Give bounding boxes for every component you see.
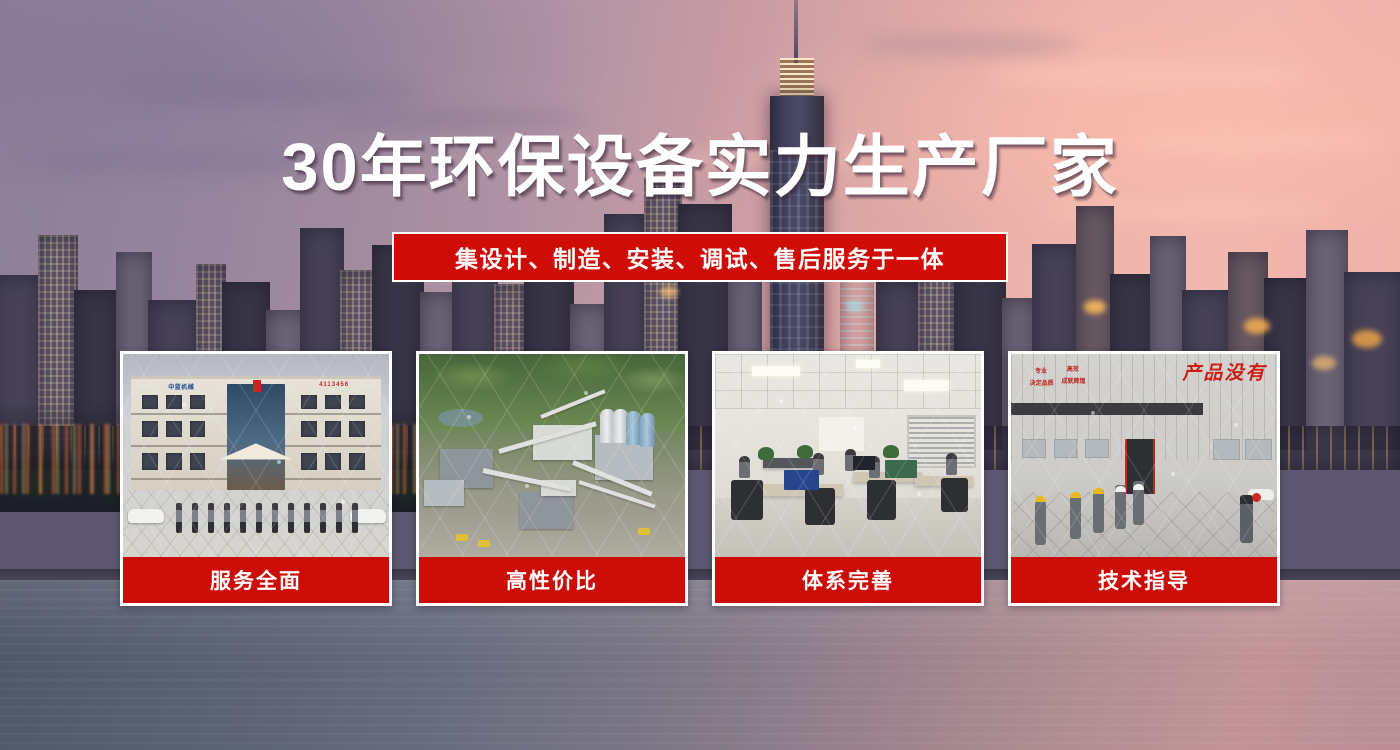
building-window bbox=[142, 453, 158, 469]
page-title: 30年环保设备实力生产厂家 bbox=[0, 134, 1400, 201]
building bbox=[1344, 272, 1400, 450]
computer-monitor bbox=[885, 460, 917, 478]
building-entrance bbox=[227, 384, 286, 490]
computer-monitor bbox=[853, 456, 874, 470]
building-window bbox=[301, 421, 317, 437]
factory-window bbox=[1022, 439, 1046, 457]
staff-person bbox=[192, 503, 198, 533]
watermark-dot bbox=[1171, 472, 1175, 476]
factory-window bbox=[1245, 439, 1272, 459]
office-chair bbox=[805, 488, 834, 525]
watermark-dot bbox=[182, 403, 186, 407]
potted-plant bbox=[797, 445, 813, 458]
card-photo-company-building: 中蓝机械 4113456 bbox=[123, 354, 389, 557]
supervisor bbox=[1240, 495, 1253, 543]
building-window bbox=[325, 421, 341, 437]
hard-hat bbox=[1133, 484, 1144, 490]
feature-card[interactable]: 体系完善 bbox=[712, 351, 984, 606]
staff-person bbox=[320, 503, 326, 533]
watermark-dot bbox=[277, 460, 281, 464]
city-light-glow bbox=[1352, 330, 1382, 348]
ceiling-light bbox=[904, 380, 949, 390]
office-worker bbox=[739, 456, 750, 478]
staff-person bbox=[176, 503, 182, 533]
building bbox=[1306, 230, 1348, 450]
factory-window bbox=[1085, 439, 1109, 457]
subtitle-text: 集设计、制造、安装、调试、售后服务于一体 bbox=[455, 240, 945, 274]
building-window bbox=[166, 453, 182, 469]
card-label: 高性价比 bbox=[419, 557, 685, 603]
watermark-dot bbox=[1091, 411, 1095, 415]
parked-car bbox=[128, 509, 164, 523]
building-window bbox=[349, 453, 365, 469]
plant-structure bbox=[520, 492, 573, 529]
slogan-small-text: 成就辉煌 bbox=[1062, 376, 1086, 385]
construction-machine bbox=[638, 528, 650, 535]
building-sign-text: 中蓝机械 bbox=[168, 382, 194, 391]
building-window bbox=[325, 453, 341, 469]
building-window bbox=[190, 453, 206, 469]
office-worker bbox=[946, 453, 957, 475]
card-photo-office-interior bbox=[715, 354, 981, 557]
computer-monitor bbox=[784, 470, 819, 490]
card-label: 体系完善 bbox=[715, 557, 981, 603]
staff-person bbox=[304, 503, 310, 533]
card-photo-factory-workers: 产品没有 专业 决定品质 高效 成就辉煌 bbox=[1011, 354, 1277, 557]
staff-person bbox=[352, 503, 358, 533]
staff-person bbox=[208, 503, 214, 533]
building-window bbox=[301, 395, 317, 409]
building-window bbox=[301, 453, 317, 469]
factory-worker bbox=[1093, 489, 1104, 533]
factory-worker bbox=[1035, 501, 1046, 545]
factory-window bbox=[1054, 439, 1078, 457]
feature-card[interactable]: 高性价比 bbox=[416, 351, 688, 606]
staff-person bbox=[240, 503, 246, 533]
staff-person bbox=[288, 503, 294, 533]
construction-machine bbox=[478, 540, 490, 547]
building-window bbox=[325, 395, 341, 409]
potted-plant bbox=[758, 447, 774, 460]
pond bbox=[438, 409, 483, 427]
feature-card[interactable]: 产品没有 专业 决定品质 高效 成就辉煌 bbox=[1008, 351, 1280, 606]
building-phone-text: 4113456 bbox=[319, 382, 349, 388]
plant-structure bbox=[424, 480, 464, 506]
factory-slogan-banner: 产品没有 专业 决定品质 高效 成就辉煌 bbox=[1011, 358, 1277, 403]
card-photo-industrial-plant bbox=[419, 354, 685, 557]
wall-poster bbox=[819, 417, 864, 452]
watermark-dot bbox=[584, 391, 588, 395]
staff-person bbox=[272, 503, 278, 533]
staff-person bbox=[256, 503, 262, 533]
building-window bbox=[142, 395, 158, 409]
city-light-glow bbox=[660, 286, 678, 298]
building-window bbox=[349, 395, 365, 409]
staff-person bbox=[224, 503, 230, 533]
feature-card-row: 中蓝机械 4113456 bbox=[120, 351, 1280, 606]
factory-worker bbox=[1070, 495, 1081, 539]
potted-plant bbox=[883, 445, 899, 458]
city-light-glow bbox=[1244, 318, 1270, 334]
card-label: 服务全面 bbox=[123, 557, 389, 603]
city-light-glow bbox=[1312, 356, 1336, 370]
hard-hat bbox=[1035, 496, 1046, 502]
office-chair bbox=[867, 480, 896, 521]
hard-hat bbox=[1115, 486, 1126, 492]
city-light-glow bbox=[846, 300, 864, 312]
construction-machine bbox=[456, 534, 468, 541]
building-window bbox=[349, 421, 365, 437]
slogan-large-text: 产品没有 bbox=[1182, 358, 1266, 385]
hard-hat bbox=[1093, 488, 1104, 494]
ceiling-light bbox=[856, 360, 880, 368]
slogan-small-text: 专业 bbox=[1035, 366, 1047, 375]
factory-window bbox=[1213, 439, 1240, 459]
promo-banner: 30年环保设备实力生产厂家 集设计、制造、安装、调试、售后服务于一体 中蓝机械 … bbox=[0, 0, 1400, 750]
building-window bbox=[190, 421, 206, 437]
watermark-dot bbox=[467, 415, 471, 419]
card-label: 技术指导 bbox=[1011, 557, 1277, 603]
slogan-small-text: 决定品质 bbox=[1030, 378, 1054, 387]
building-window bbox=[142, 421, 158, 437]
subtitle-banner: 集设计、制造、安装、调试、售后服务于一体 bbox=[392, 232, 1008, 282]
office-chair bbox=[731, 480, 763, 521]
city-light-glow bbox=[1084, 300, 1106, 314]
slogan-small-text: 高效 bbox=[1067, 364, 1079, 373]
building-window bbox=[166, 421, 182, 437]
tower-spire bbox=[794, 0, 798, 64]
office-chair bbox=[941, 478, 968, 513]
watermark-dot bbox=[779, 399, 783, 403]
building-window bbox=[166, 395, 182, 409]
factory-awning bbox=[1011, 403, 1203, 415]
hard-hat bbox=[1070, 492, 1081, 498]
building-window bbox=[190, 395, 206, 409]
ceiling-light bbox=[752, 366, 800, 376]
feature-card[interactable]: 中蓝机械 4113456 bbox=[120, 351, 392, 606]
staff-person bbox=[336, 503, 342, 533]
storage-silo bbox=[640, 413, 655, 447]
flag bbox=[253, 380, 261, 392]
